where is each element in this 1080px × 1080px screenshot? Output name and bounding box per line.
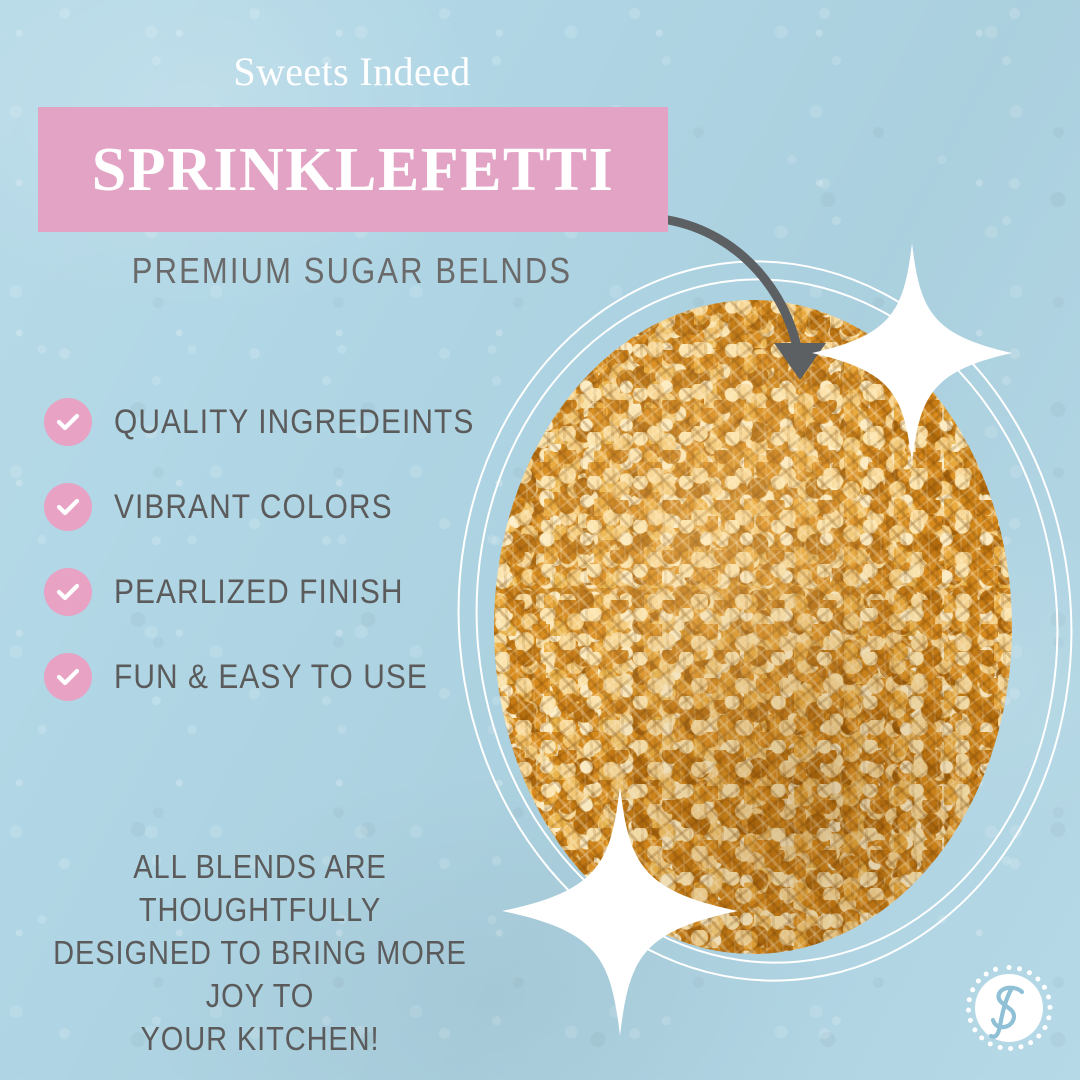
feature-item: FUN & EASY TO USE bbox=[44, 653, 524, 701]
feature-label: PEARLIZED FINISH bbox=[114, 573, 404, 612]
check-icon bbox=[44, 398, 92, 446]
feature-item: VIBRANT COLORS bbox=[44, 483, 524, 531]
tagline-line-1: ALL BLENDS ARE THOUGHTFULLY bbox=[47, 846, 473, 932]
product-marketing-image: Sweets Indeed SPRINKLEFETTI PREMIUM SUGA… bbox=[0, 0, 1080, 1080]
check-icon bbox=[44, 568, 92, 616]
product-title: SPRINKLEFETTI bbox=[92, 139, 615, 201]
tagline-line-3: YOUR KITCHEN! bbox=[47, 1018, 473, 1061]
title-band: SPRINKLEFETTI bbox=[38, 107, 668, 232]
product-subtitle: PREMIUM SUGAR BELNDS bbox=[49, 250, 654, 292]
feature-label: QUALITY INGREDEINTS bbox=[114, 403, 474, 442]
tagline: ALL BLENDS ARE THOUGHTFULLY DESIGNED TO … bbox=[47, 846, 473, 1060]
sparkle-bottom-left-icon bbox=[502, 786, 738, 1036]
feature-label: FUN & EASY TO USE bbox=[114, 658, 428, 697]
tagline-line-2: DESIGNED TO BRING MORE JOY TO bbox=[47, 932, 473, 1018]
feature-item: PEARLIZED FINISH bbox=[44, 568, 524, 616]
brand-logo bbox=[962, 962, 1056, 1056]
check-icon bbox=[44, 653, 92, 701]
brand-name: Sweets Indeed bbox=[0, 48, 704, 95]
feature-label: VIBRANT COLORS bbox=[114, 488, 393, 527]
feature-list: QUALITY INGREDEINTS VIBRANT COLORS PEARL… bbox=[44, 398, 524, 738]
feature-item: QUALITY INGREDEINTS bbox=[44, 398, 524, 446]
check-icon bbox=[44, 483, 92, 531]
sparkle-top-right-icon bbox=[812, 243, 1012, 463]
